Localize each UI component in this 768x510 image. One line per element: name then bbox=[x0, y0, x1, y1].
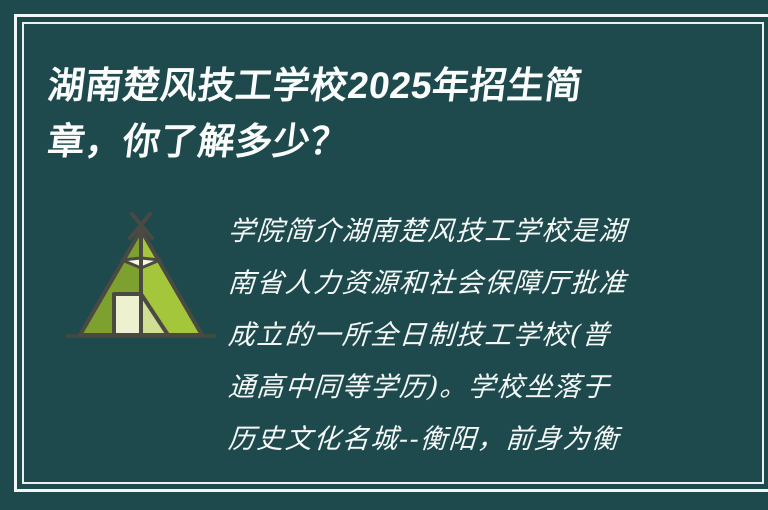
title-line-1: 湖南楚风技工学校2025年招生简 bbox=[45, 58, 692, 114]
title-line-2: 章，你了解多少？ bbox=[45, 114, 692, 170]
poster-canvas: 湖南楚风技工学校2025年招生简 章，你了解多少？ 学院简介湖南楚风技工学 bbox=[0, 0, 768, 510]
body-line-5: 历史文化名城--衡阳，前身为衡 bbox=[226, 414, 654, 466]
teepee-tent-icon bbox=[62, 208, 220, 348]
body-line-1: 学院简介湖南楚风技工学校是湖 bbox=[226, 206, 654, 258]
body-paragraph: 学院简介湖南楚风技工学校是湖 南省人力资源和社会保障厅批准 成立的一所全日制技工… bbox=[228, 206, 652, 466]
body-line-2: 南省人力资源和社会保障厅批准 bbox=[226, 258, 654, 310]
body-line-4: 通高中同等学历)。学校坐落于 bbox=[226, 362, 654, 414]
body-line-3: 成立的一所全日制技工学校(普 bbox=[226, 310, 654, 362]
page-title: 湖南楚风技工学校2025年招生简 章，你了解多少？ bbox=[48, 58, 688, 170]
